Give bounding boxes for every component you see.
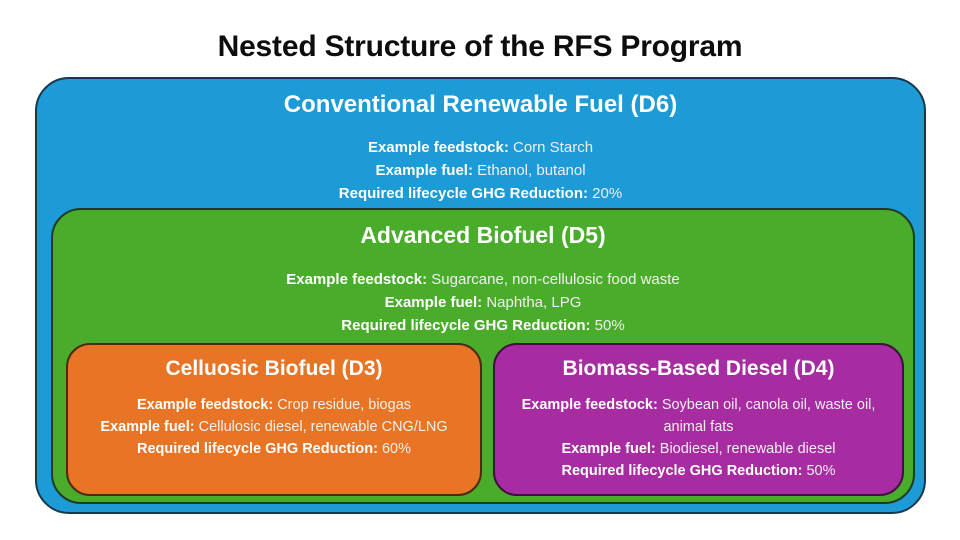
detail-ghg-d3: Required lifecycle GHG Reduction: 60% xyxy=(82,438,466,460)
detail-value-ghg: 20% xyxy=(592,185,622,202)
heading-biomass-based-diesel-d4: Biomass-Based Diesel (D4) xyxy=(495,356,902,381)
detail-label-feedstock: Example feedstock: xyxy=(286,271,427,288)
heading-cellulosic-biofuel-d3: Celluosic Biofuel (D3) xyxy=(68,356,480,381)
detail-feedstock-d3: Example feedstock: Crop residue, biogas xyxy=(82,394,466,416)
detail-label-feedstock: Example feedstock: xyxy=(137,397,273,413)
detail-label-fuel: Example fuel: xyxy=(100,419,194,435)
detail-label-fuel: Example fuel: xyxy=(561,441,655,457)
detail-value-ghg: 60% xyxy=(382,441,411,457)
details-biomass-based-diesel-d4: Example feedstock: Soybean oil, canola o… xyxy=(511,394,886,482)
detail-value-fuel: Biodiesel, renewable diesel xyxy=(660,441,836,457)
detail-label-ghg: Required lifecycle GHG Reduction: xyxy=(341,317,590,334)
page-title: Nested Structure of the RFS Program xyxy=(0,29,960,65)
detail-value-feedstock: Sugarcane, non-cellulosic food waste xyxy=(431,271,679,288)
detail-value-fuel: Ethanol, butanol xyxy=(477,162,585,179)
detail-label-ghg: Required lifecycle GHG Reduction: xyxy=(137,441,378,457)
heading-advanced-biofuel-d5: Advanced Biofuel (D5) xyxy=(53,222,913,249)
box-biomass-based-diesel-d4[interactable]: Biomass-Based Diesel (D4) Example feedst… xyxy=(493,343,904,496)
heading-conventional-renewable-fuel-d6: Conventional Renewable Fuel (D6) xyxy=(37,91,924,119)
detail-label-feedstock: Example feedstock: xyxy=(368,139,509,156)
detail-label-fuel: Example fuel: xyxy=(385,294,483,311)
detail-value-ghg: 50% xyxy=(806,463,835,479)
detail-value-fuel: Cellulosic diesel, renewable CNG/LNG xyxy=(199,419,448,435)
detail-ghg-d4: Required lifecycle GHG Reduction: 50% xyxy=(511,460,886,482)
detail-value-feedstock: Crop residue, biogas xyxy=(277,397,411,413)
details-cellulosic-biofuel-d3: Example feedstock: Crop residue, biogas … xyxy=(82,394,466,460)
detail-feedstock-d6: Example feedstock: Corn Starch xyxy=(37,136,924,159)
detail-fuel-d6: Example fuel: Ethanol, butanol xyxy=(37,159,924,182)
detail-value-fuel: Naphtha, LPG xyxy=(486,294,581,311)
detail-value-feedstock: Corn Starch xyxy=(513,139,593,156)
detail-value-ghg: 50% xyxy=(595,317,625,334)
detail-fuel-d4: Example fuel: Biodiesel, renewable diese… xyxy=(511,438,886,460)
detail-label-ghg: Required lifecycle GHG Reduction: xyxy=(339,185,588,202)
box-conventional-renewable-fuel-d6[interactable]: Conventional Renewable Fuel (D6) Example… xyxy=(35,77,926,514)
detail-feedstock-d4: Example feedstock: Soybean oil, canola o… xyxy=(511,394,886,438)
details-conventional-renewable-fuel-d6: Example feedstock: Corn Starch Example f… xyxy=(37,136,924,205)
detail-fuel-d3: Example fuel: Cellulosic diesel, renewab… xyxy=(82,416,466,438)
detail-label-fuel: Example fuel: xyxy=(375,162,473,179)
detail-value-feedstock: Soybean oil, canola oil, waste oil, anim… xyxy=(662,397,876,435)
box-advanced-biofuel-d5[interactable]: Advanced Biofuel (D5) Example feedstock:… xyxy=(51,208,915,504)
box-cellulosic-biofuel-d3[interactable]: Celluosic Biofuel (D3) Example feedstock… xyxy=(66,343,482,496)
detail-fuel-d5: Example fuel: Naphtha, LPG xyxy=(53,291,913,314)
detail-label-ghg: Required lifecycle GHG Reduction: xyxy=(562,463,803,479)
details-advanced-biofuel-d5: Example feedstock: Sugarcane, non-cellul… xyxy=(53,268,913,337)
detail-ghg-d6: Required lifecycle GHG Reduction: 20% xyxy=(37,182,924,205)
detail-ghg-d5: Required lifecycle GHG Reduction: 50% xyxy=(53,314,913,337)
detail-label-feedstock: Example feedstock: xyxy=(522,397,658,413)
diagram-canvas: Nested Structure of the RFS Program Conv… xyxy=(0,0,960,540)
detail-feedstock-d5: Example feedstock: Sugarcane, non-cellul… xyxy=(53,268,913,291)
